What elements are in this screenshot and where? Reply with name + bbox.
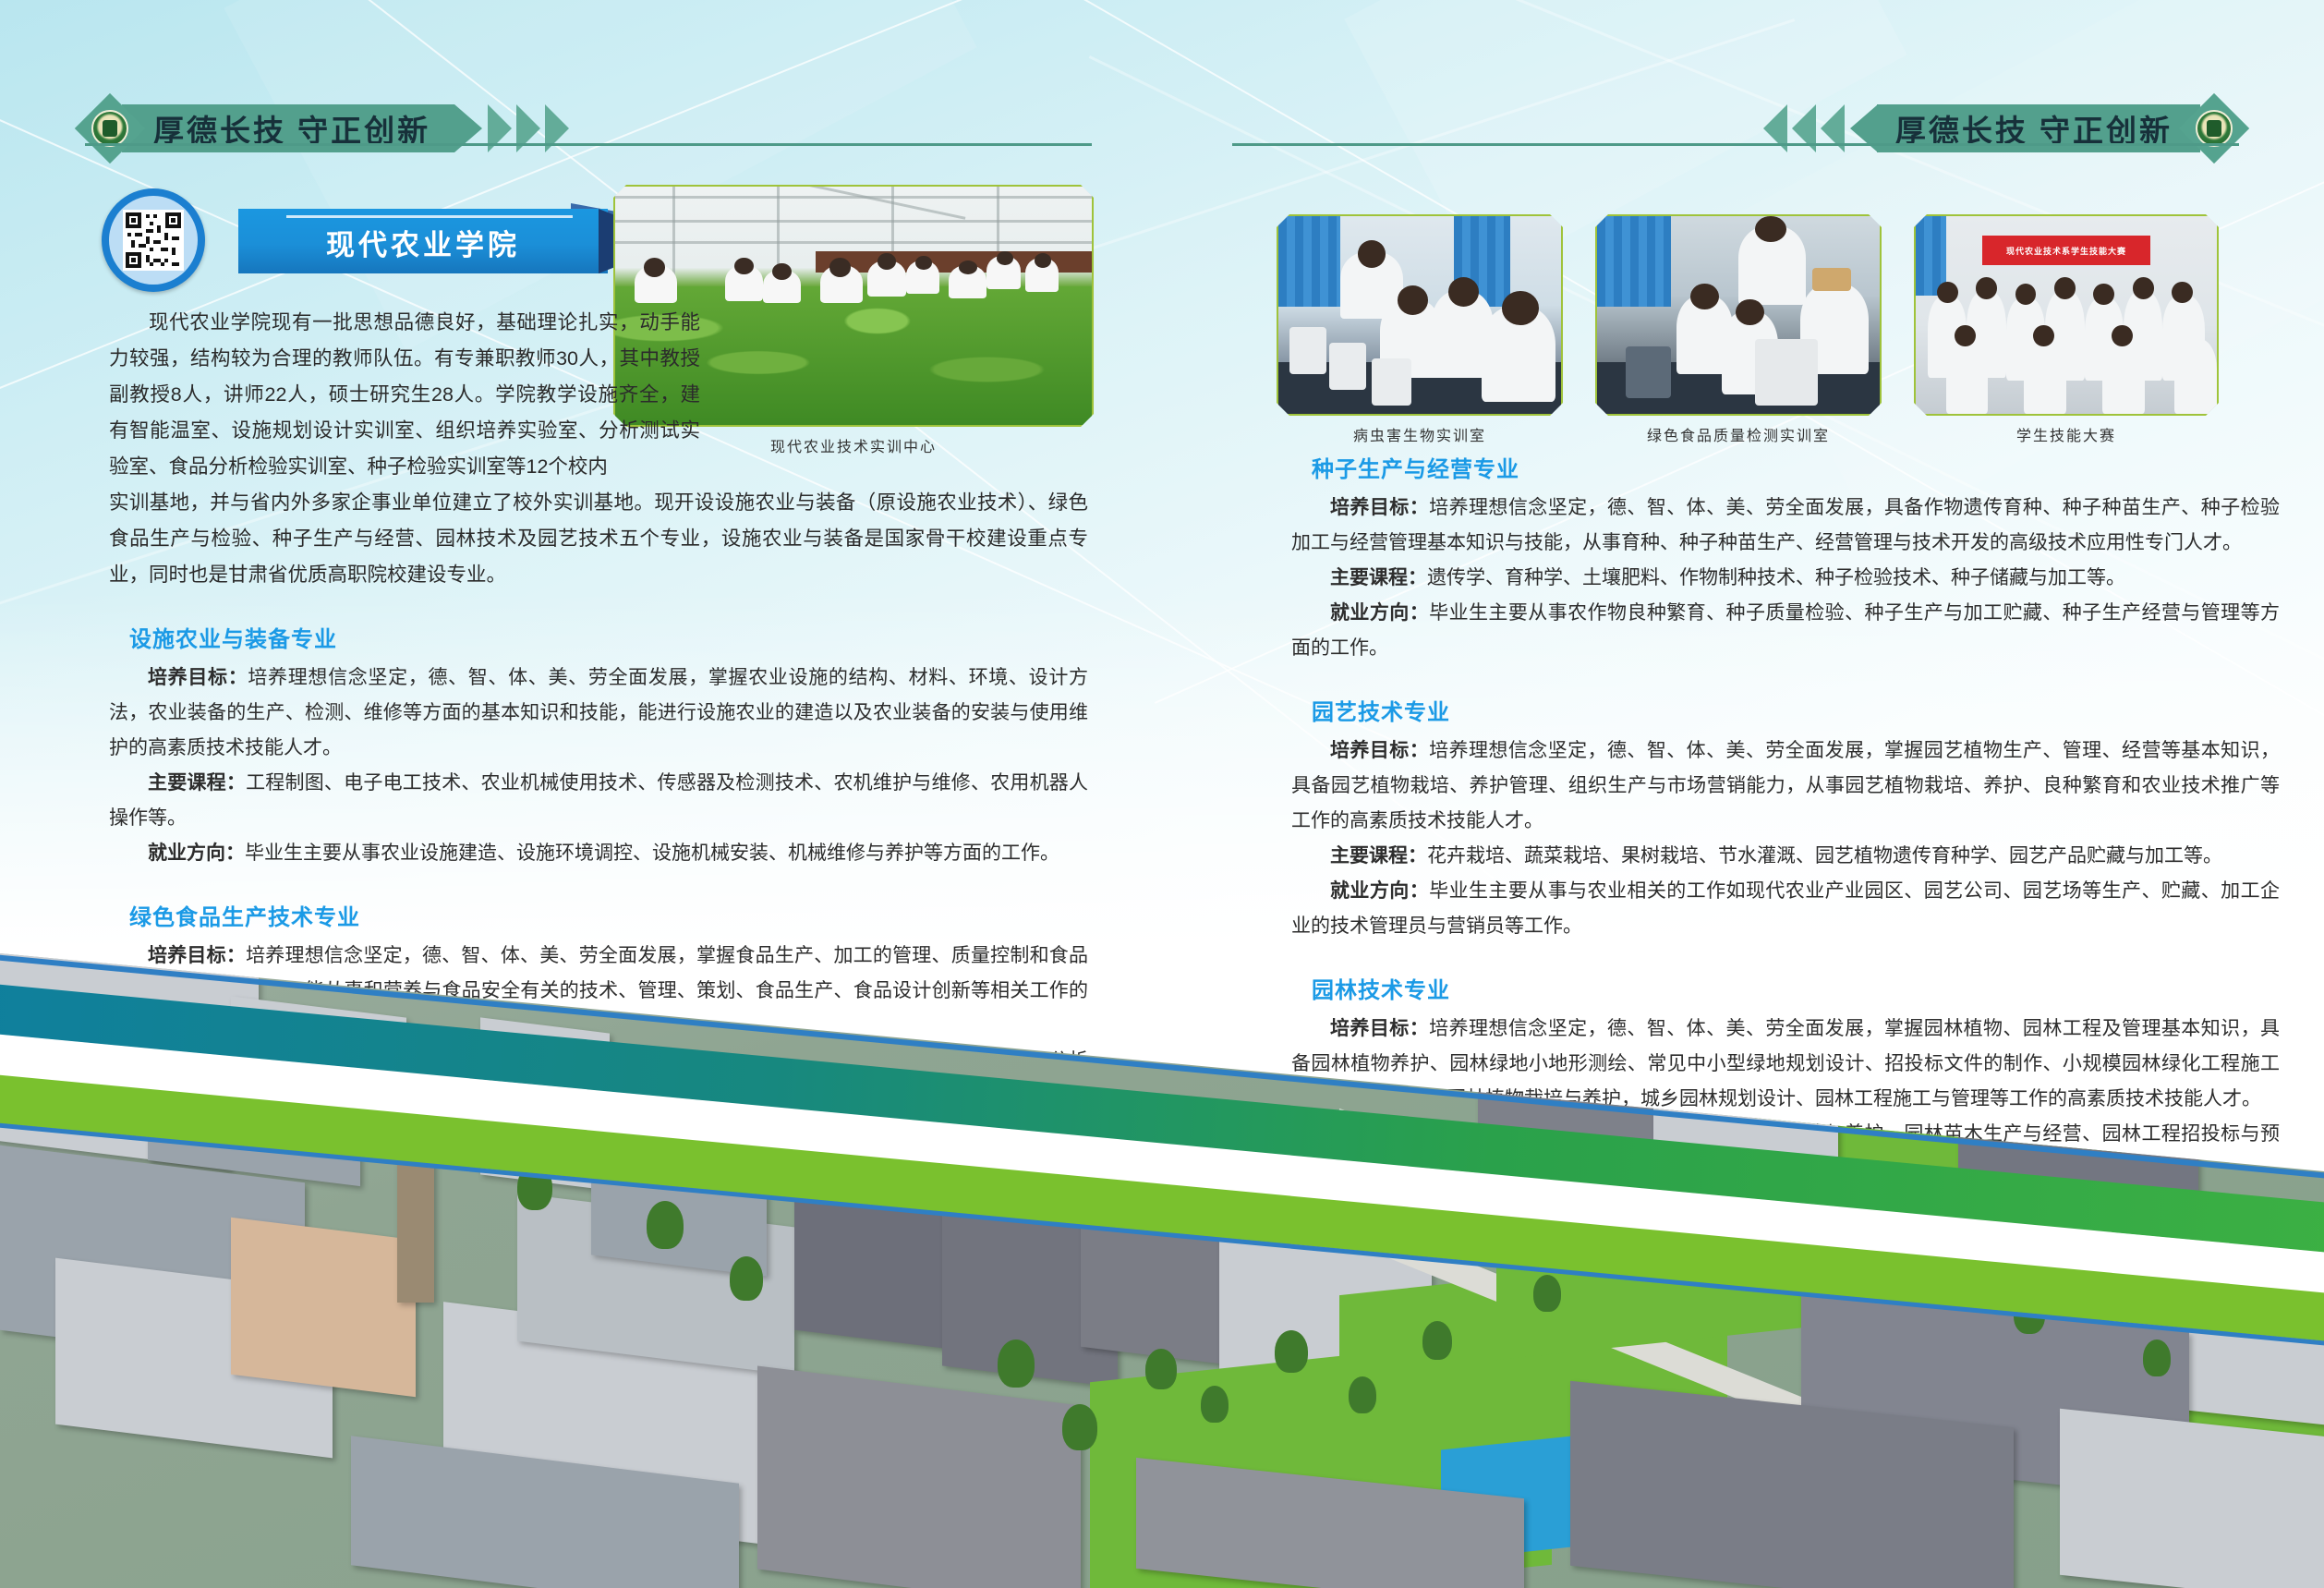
lab-image: [1597, 216, 1880, 414]
green-food-quality-lab-caption: 绿色食品质量检测实训室: [1595, 423, 1882, 445]
major-career-line: 就业方向：毕业生主要从事农作物良种繁育、种子质量检验、种子生产与加工贮藏、种子生…: [1291, 596, 2280, 666]
career-text: 毕业生主要从事农作物良种繁育、种子质量检验、种子生产与加工贮藏、种子生产经营与管…: [1291, 602, 2280, 659]
courses-text: 工程制图、电子电工技术、农业机械使用技术、传感器及检测技术、农机维护与维修、农用…: [109, 772, 1088, 829]
goal-label: 培养目标：: [1330, 497, 1429, 518]
major-career-line: 就业方向：毕业生主要从事农业设施建造、设施环境调控、设施机械安装、机械维修与养护…: [109, 836, 1088, 871]
student-skills-competition-caption: 学生技能大赛: [1914, 423, 2219, 445]
major-title: 种子生产与经营专业: [1312, 451, 2280, 483]
major-goal-line: 培养目标：培养理想信念坚定，德、智、体、美、劳全面发展，具备作物遗传育种、种子种…: [1291, 491, 2280, 561]
career-label: 就业方向：: [148, 842, 245, 864]
major-title: 绿色食品生产技术专业: [129, 899, 1088, 931]
career-label: 就业方向：: [1330, 602, 1429, 624]
major-block-facility-agriculture: 设施农业与装备专业 培养目标：培养理想信念坚定，德、智、体、美、劳全面发展，掌握…: [109, 621, 1088, 871]
courses-label: 主要课程：: [1330, 567, 1427, 588]
courses-text: 花卉栽培、蔬菜栽培、果树栽培、节水灌溉、园艺植物遗传育种学、园艺产品贮藏与加工等…: [1427, 845, 2222, 867]
motto-banner-left: 厚德长技 守正创新: [85, 100, 575, 157]
goal-label: 培养目标：: [148, 667, 248, 688]
lab-image: [1278, 216, 1561, 414]
motto-banner-right: 厚德长技 守正创新: [1758, 100, 2239, 157]
major-courses-line: 主要课程：遗传学、育种学、土壤肥料、作物制种技术、种子检验技术、种子储藏与加工等…: [1291, 561, 2280, 596]
competition-banner-text: 现代农业技术系学生技能大赛: [2006, 245, 2126, 257]
motto-rule-right: [1232, 143, 2239, 146]
green-food-quality-lab-photo: [1595, 214, 1882, 416]
major-courses-line: 主要课程：花卉栽培、蔬菜栽培、果树栽培、节水灌溉、园艺植物遗传育种学、园艺产品贮…: [1291, 839, 2280, 874]
career-text: 毕业生主要从事农业设施建造、设施环境调控、设施机械安装、机械维修与养护等方面的工…: [245, 842, 1059, 864]
lab-image: 现代农业技术系学生技能大赛: [1916, 216, 2217, 414]
major-career-line: 就业方向：毕业生主要从事与农业相关的工作如现代农业产业园区、园艺公司、园艺场等生…: [1291, 874, 2280, 944]
goal-label: 培养目标：: [1330, 1018, 1429, 1039]
major-block-horticulture: 园艺技术专业 培养目标：培养理想信念坚定，德、智、体、美、劳全面发展，掌握园艺植…: [1291, 694, 2280, 944]
qr-code-icon: [123, 210, 184, 271]
goal-text: 培养理想信念坚定，德、智、体、美、劳全面发展，掌握园艺植物生产、管理、经营等基本…: [1291, 740, 2280, 831]
intro-paragraph-part2: 实训基地，并与省内外多家企事业单位建立了校外实训基地。现开设设施农业与装备（原设…: [109, 485, 1088, 593]
pest-biology-lab-photo: [1277, 214, 1563, 416]
major-goal-line: 培养目标：培养理想信念坚定，德、智、体、美、劳全面发展，掌握农业设施的结构、材料…: [109, 661, 1088, 766]
goal-text: 培养理想信念坚定，德、智、体、美、劳全面发展，具备作物遗传育种、种子种苗生产、种…: [1291, 497, 2280, 553]
career-label: 就业方向：: [1330, 880, 1429, 902]
pest-biology-lab-caption: 病虫害生物实训室: [1277, 423, 1563, 445]
major-title: 设施农业与装备专业: [129, 621, 1088, 653]
student-skills-competition-photo: 现代农业技术系学生技能大赛: [1914, 214, 2219, 416]
courses-label: 主要课程：: [1330, 845, 1427, 867]
competition-banner: 现代农业技术系学生技能大赛: [1982, 236, 2151, 265]
qr-code-badge[interactable]: [102, 188, 205, 292]
motto-rule-left: [85, 143, 1092, 146]
major-goal-line: 培养目标：培养理想信念坚定，德、智、体、美、劳全面发展，掌握园艺植物生产、管理、…: [1291, 733, 2280, 839]
intro-paragraph-part1: 现代农业学院现有一批思想品德良好，基础理论扎实，动手能力较强，结构较为合理的教师…: [109, 305, 700, 485]
major-block-seed-production: 种子生产与经营专业 培养目标：培养理想信念坚定，德、智、体、美、劳全面发展，具备…: [1291, 451, 2280, 666]
courses-label: 主要课程：: [148, 772, 246, 794]
department-title: 现代农业学院: [238, 222, 608, 263]
career-text: 毕业生主要从事与农业相关的工作如现代农业产业园区、园艺公司、园艺场等生产、贮藏、…: [1291, 880, 2280, 937]
goal-text: 培养理想信念坚定，德、智、体、美、劳全面发展，掌握农业设施的结构、材料、环境、设…: [109, 667, 1088, 758]
goal-label: 培养目标：: [1330, 740, 1429, 761]
plate-rule: [286, 215, 573, 218]
major-title: 园艺技术专业: [1312, 694, 2280, 726]
major-courses-line: 主要课程：工程制图、电子电工技术、农业机械使用技术、传感器及检测技术、农机维护与…: [109, 766, 1088, 836]
courses-text: 遗传学、育种学、土壤肥料、作物制种技术、种子检验技术、种子储藏与加工等。: [1427, 567, 2125, 588]
major-title: 园林技术专业: [1312, 972, 2280, 1004]
goal-label: 培养目标：: [148, 945, 246, 966]
